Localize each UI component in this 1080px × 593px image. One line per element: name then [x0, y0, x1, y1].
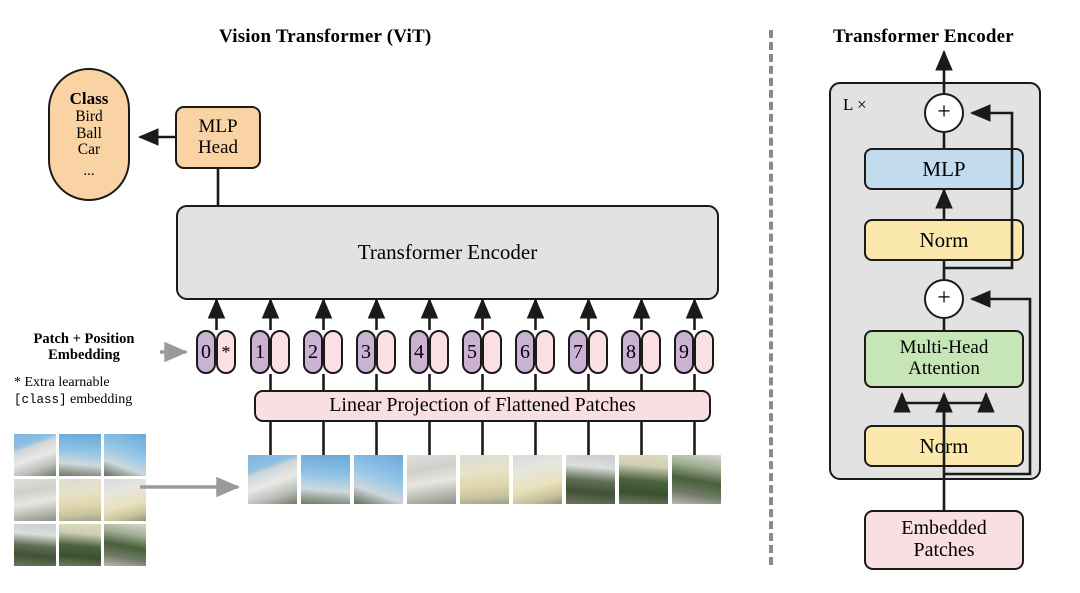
connector-overlay: [0, 0, 1080, 593]
